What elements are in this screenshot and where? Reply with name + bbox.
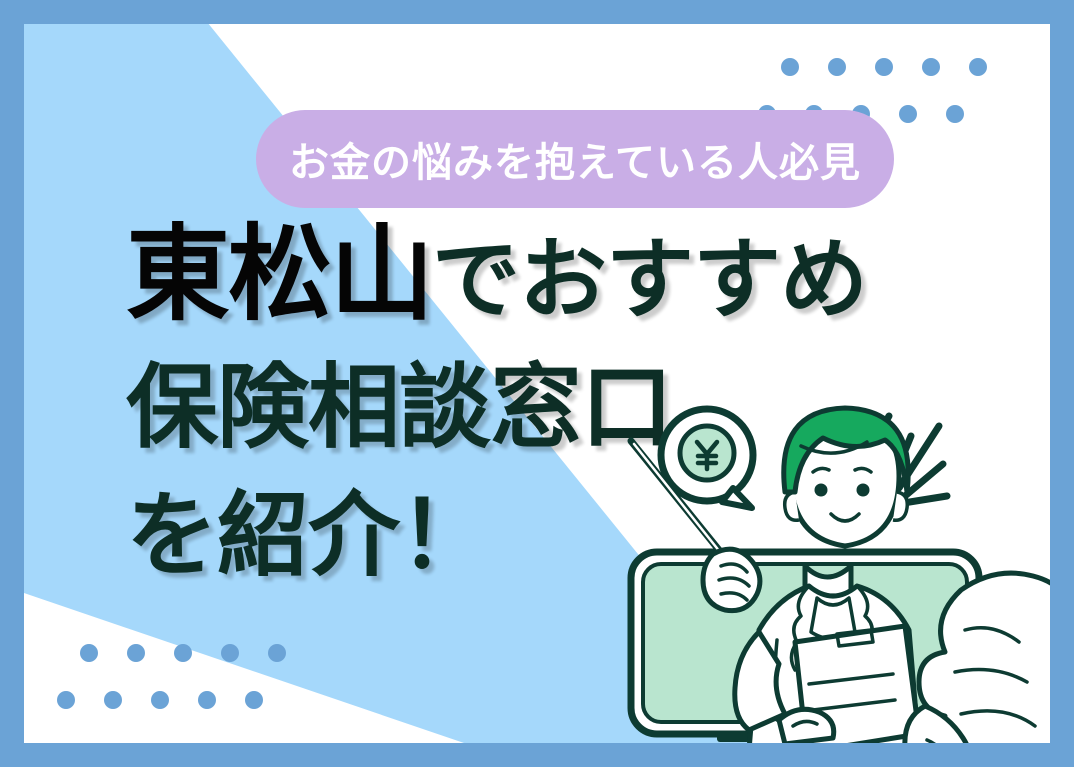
dot-row: [781, 58, 1016, 76]
banner-inner-canvas: お金の悩みを抱えている人必見 東松山でおすすめ 保険相談窓口 を紹介！ .ln …: [24, 24, 1050, 743]
catch-badge-label: お金の悩みを抱えている人必見: [289, 130, 861, 188]
decor-dot: [828, 58, 846, 76]
decor-dot: [781, 58, 799, 76]
headline-line-1-suffix: でおすすめ: [432, 228, 867, 331]
decor-dot: [899, 105, 917, 123]
decor-dot: [80, 644, 98, 662]
decor-dot: [922, 58, 940, 76]
dot-row: [80, 644, 315, 662]
decor-dot: [127, 644, 145, 662]
decor-dot: [174, 644, 192, 662]
decor-dot: [969, 58, 987, 76]
headline-line-1: 東松山でおすすめ: [126, 222, 906, 326]
decor-dot: [946, 105, 964, 123]
illustration-advisor-in-phone: .ln { stroke:#0d3b32; stroke-width:5; st…: [609, 384, 1050, 743]
decor-dot: [268, 644, 286, 662]
eyecatch-banner: お金の悩みを抱えている人必見 東松山でおすすめ 保険相談窓口 を紹介！ .ln …: [0, 0, 1074, 767]
decor-dot: [104, 691, 122, 709]
catch-badge: お金の悩みを抱えている人必見: [256, 110, 894, 208]
dot-grid-bottom-left: [80, 644, 315, 709]
headline-place-name: 東松山: [126, 213, 432, 335]
eye-right: [857, 484, 870, 497]
decor-dot: [875, 58, 893, 76]
eye-left: [815, 484, 828, 497]
decor-dot: [151, 691, 169, 709]
decor-dot: [221, 644, 239, 662]
dot-row: [57, 691, 315, 709]
decor-dot: [198, 691, 216, 709]
decor-dot: [245, 691, 263, 709]
decor-dot: [57, 691, 75, 709]
